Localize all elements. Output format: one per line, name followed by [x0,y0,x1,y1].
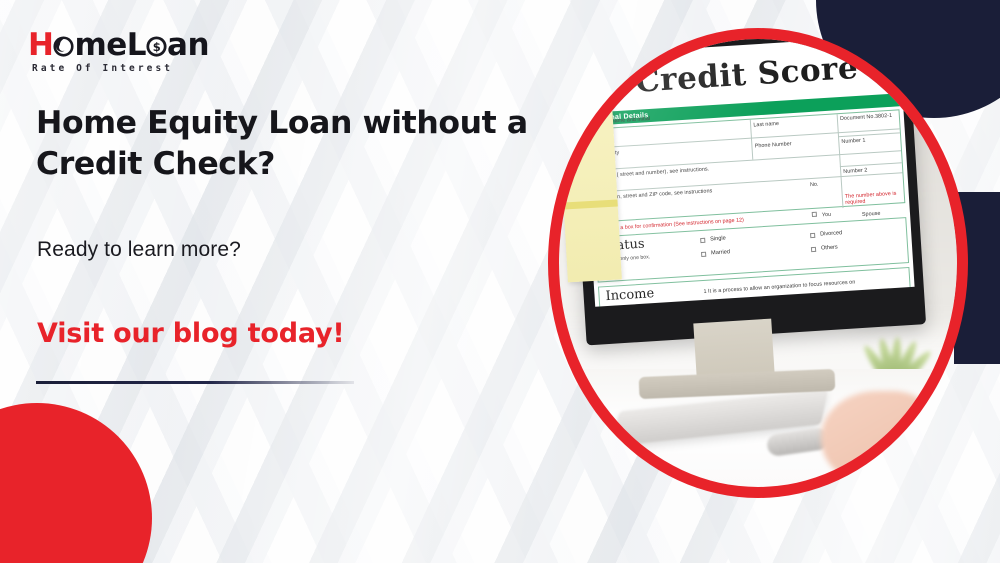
page-title: Home Equity Loan without a Credit Check? [36,103,528,185]
hero-image: Credit Score Personal Details [548,28,968,498]
red-ring-frame [548,28,968,498]
subheading: Ready to learn more? [37,238,241,262]
cta-text[interactable]: Visit our blog today! [37,318,345,349]
promo-banner: H me L $ an Rate Of Interest Home E [0,0,1000,563]
logo-tagline: Rate Of Interest [32,63,218,74]
dollar-circle-icon: $ [145,35,168,58]
swirl-icon [52,35,75,58]
divider [36,381,354,384]
logo-wordmark: H me L $ an [28,30,218,61]
logo-letter-h: H [28,30,53,61]
logo-letter-l: L [127,30,146,61]
svg-text:$: $ [153,40,161,54]
brand-logo[interactable]: H me L $ an Rate Of Interest [28,30,218,74]
logo-text-an: an [167,30,209,61]
logo-text-me: me [74,30,126,61]
